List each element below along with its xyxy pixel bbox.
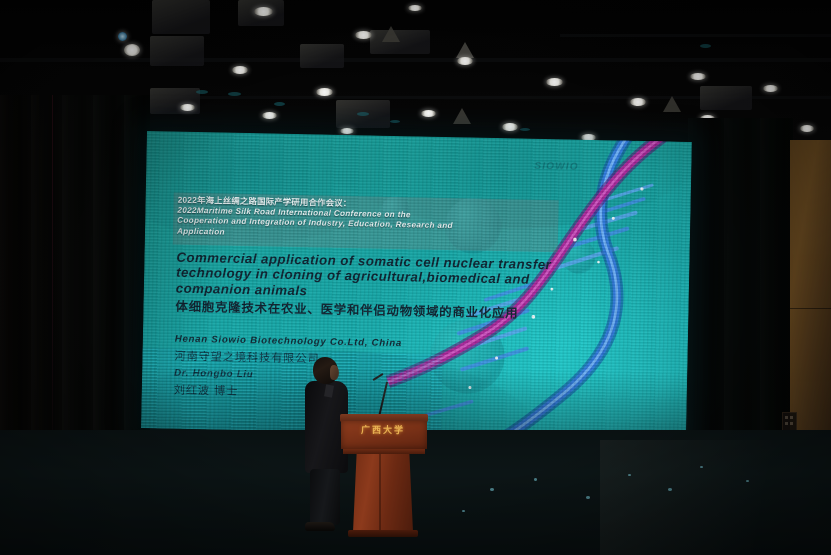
speaker-face [330,365,339,380]
lectern-lip [343,449,425,454]
header-line-en-3: Application [177,226,225,236]
led-presentation-screen: SIOWIO 2022年海上丝绸之路国际产学研用合作会议： 2022Mariti… [141,131,692,439]
lectern-base [348,530,418,537]
speaker-legs [310,469,340,525]
siowio-watermark: SIOWIO [534,161,579,173]
wall-switch-plate [782,412,797,431]
stage-curtain-right [688,118,793,478]
lectern-column [353,454,413,532]
speaker-shoes [305,522,335,531]
lectern-university-name: 广西大学 [340,423,426,436]
floor-sheen [600,440,831,555]
slide-header: 2022年海上丝绸之路国际产学研用合作会议： 2022Maritime Silk… [177,195,570,245]
slide-title-en: Commercial application of somatic cell n… [176,250,575,304]
wood-wall-panel [790,140,831,440]
auditorium-photo: SIOWIO 2022年海上丝绸之路国际产学研用合作会议： 2022Mariti… [0,0,831,555]
